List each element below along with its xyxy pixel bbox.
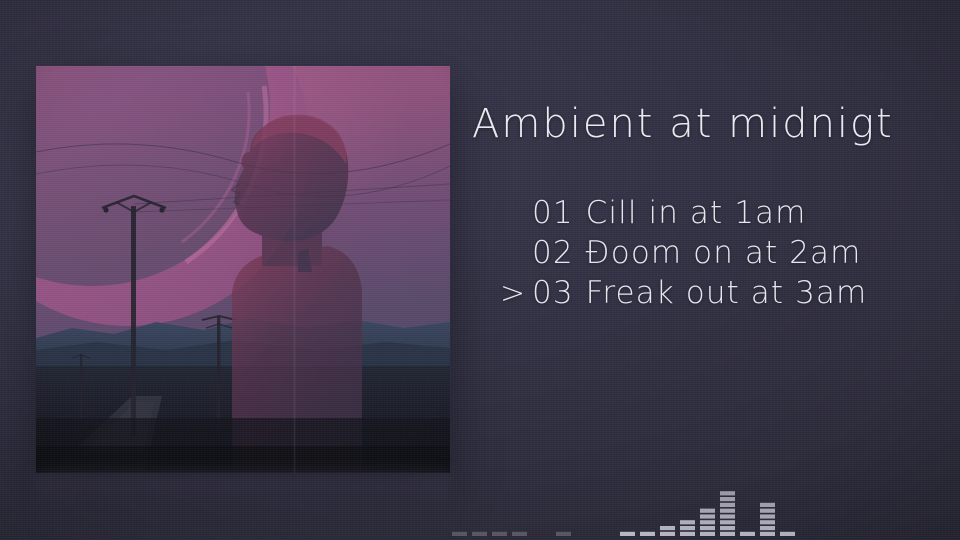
track-title: Ðoom on at 2am: [586, 235, 862, 271]
media-player-screen: Ambient at midnigt 01 Cill in at 1am 02 …: [0, 0, 960, 540]
track-number: 03: [532, 275, 574, 311]
track-title: Freak out at 3am: [586, 275, 868, 311]
track-title: Cill in at 1am: [586, 195, 807, 231]
tracklist: 01 Cill in at 1am 02 Ðoom on at 2am > 03…: [500, 195, 930, 315]
album-art[interactable]: [36, 66, 450, 473]
list-item[interactable]: > 03 Freak out at 3am: [500, 275, 930, 315]
list-item[interactable]: 01 Cill in at 1am: [500, 195, 930, 235]
album-art-illustration: [36, 66, 450, 473]
list-item[interactable]: 02 Ðoom on at 2am: [500, 235, 930, 275]
page-title: Ambient at midnigt: [472, 101, 894, 147]
track-number: 02: [532, 235, 574, 271]
now-playing-cursor-icon: >: [500, 279, 532, 309]
track-number: 01: [532, 195, 574, 231]
